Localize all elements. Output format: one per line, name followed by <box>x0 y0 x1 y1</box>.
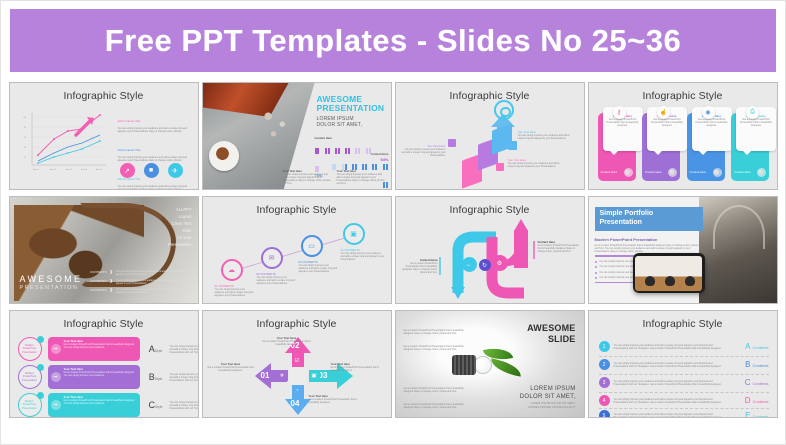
caption-body: You can simply impress your audience and… <box>283 173 331 185</box>
subtitle-small: LOREM IPSUM DOLOR SIT AMET, CONSECTETUER… <box>520 402 576 409</box>
phone-mockup <box>633 253 705 293</box>
slide-thumbnail-11[interactable]: AWESOME SLIDE LOREM IPSUM DOLOR SIT AMET… <box>395 310 585 418</box>
camera-icon: ▣ <box>343 223 365 245</box>
item-body: You can simply impress your audience and… <box>614 398 727 404</box>
content-block: Add Contents Title You can simply impres… <box>118 138 190 162</box>
arch-region <box>713 205 765 249</box>
globe-icon: ⚪ <box>713 168 722 177</box>
item-label: CONTENTS <box>81 279 107 283</box>
document-icon: ■ <box>144 163 159 178</box>
node-caption-1: 01 CONTENTS You can simply impress your … <box>215 285 255 297</box>
bar-body: Get a modern PowerPoint Presentation tha… <box>64 399 136 405</box>
left-content-block: Content Here Get a modern PowerPoint Pre… <box>402 259 438 274</box>
chair-region <box>645 276 655 286</box>
card-2[interactable]: Contents Here Get a modern PowerPoint Pr… <box>642 113 680 181</box>
row-bar: ➞ Your Text Here Get a modern PowerPoint… <box>48 393 140 417</box>
cloud-icon: ☁ <box>221 259 243 281</box>
bullet-1: Get a modern PowerPoint Presentation tha… <box>404 329 470 335</box>
page-title: Free PPT Templates - Slides No 25~36 <box>105 23 682 59</box>
item-body: You can simply impress your audience and… <box>116 279 188 285</box>
caption-body: You can simply impress your audience and… <box>257 276 297 285</box>
card-row: Contents Here Get a modern PowerPoint Pr… <box>598 113 770 181</box>
separator <box>599 408 769 409</box>
monitor-icon: ▭ <box>301 235 323 257</box>
card-body: Get a modern PowerPoint Presentation tha… <box>739 118 773 127</box>
row-letter: BStyle <box>145 372 167 382</box>
section-body: Get a modern PowerPoint Presentation tha… <box>595 244 703 253</box>
arrow-number-03: 03 <box>319 371 328 380</box>
item-body: You can simply impress your audience and… <box>614 413 727 419</box>
section-heading: Modern PowerPoint Presentation <box>595 237 703 242</box>
bullet-2: Get a modern PowerPoint Presentation tha… <box>404 345 470 351</box>
step-caption-3: Your Text Here You can simply impress yo… <box>518 131 574 140</box>
subheading: PRESENTATION <box>20 285 83 291</box>
slide-thumbnail-06[interactable]: Infographic Style ☁ ✉ ▭ ▣ 01 CONTENTS Yo… <box>202 196 392 304</box>
item-label: Contents <box>752 414 768 418</box>
separator <box>599 374 769 375</box>
svg-text:80: 80 <box>24 127 26 129</box>
row-bar: ➞ Your Text Here Get a modern PowerPoint… <box>48 337 140 361</box>
item-label: Contents <box>752 363 768 368</box>
caption-body: You can simply impress your audience and… <box>341 252 385 261</box>
target-icon <box>494 100 514 120</box>
gear-icon: ⚙ <box>492 255 508 271</box>
slide-thumbnail-02[interactable]: AWESOME PRESENTATION LOREM IPSUM DOLOR S… <box>202 82 392 190</box>
bar-label: Content Here <box>315 137 389 140</box>
step-caption-1: Your Text Here You can simply impress yo… <box>402 145 446 157</box>
caption-01: Your Text Here Get a modern PowerPoint P… <box>207 363 255 372</box>
bullet-icon <box>595 266 597 268</box>
row-1: Modern PowerPoint Presentation ➞ Your Te… <box>18 337 199 361</box>
chevron-right-icon: ❯ <box>110 279 113 283</box>
heading-line2: PRESENTATION <box>317 104 389 113</box>
separator <box>599 356 769 357</box>
row-3: Modern PowerPoint Presentation ➞ Your Te… <box>18 393 199 417</box>
slide-heading-area: AWESOME PRESENTATION <box>20 274 83 291</box>
svg-text:60: 60 <box>24 137 26 139</box>
printer-icon: ⚪ <box>757 168 766 177</box>
arrow-number-01: 01 <box>261 371 270 380</box>
clock-icon: ◔ <box>292 385 303 396</box>
arrow-right-icon: ➞ <box>51 344 61 354</box>
check-icon: ☑ <box>292 355 303 366</box>
bar-body: Get a modern PowerPoint Presentation tha… <box>64 371 136 377</box>
icon-row: ↗ ■ ✈ <box>120 163 183 178</box>
block-heading: Add Contents Title <box>118 119 141 123</box>
list-item-3: 3 You can simply impress your audience a… <box>599 377 769 388</box>
style-label: Style <box>155 349 163 353</box>
chevron-right-icon: ❯ <box>110 288 113 292</box>
caption-body: You can simply impress your audience and… <box>508 162 564 168</box>
slide-thumbnail-03[interactable]: Infographic Style Your Text Here You can… <box>395 82 585 190</box>
svg-text:20: 20 <box>24 157 26 159</box>
item-label: CONTENTS <box>81 270 107 274</box>
row-note: You can simply impress your audience and… <box>170 345 199 354</box>
step-marker-2 <box>448 139 456 147</box>
caption-1: Your Text Here You can simply impress yo… <box>283 170 331 185</box>
caption-body: You can simply impress your audience and… <box>215 288 255 297</box>
slide-title: Infographic Style <box>589 318 777 330</box>
list-item-1: 1 You can simply impress your audience a… <box>599 341 769 352</box>
thumb-icon: ⚪ <box>668 168 677 177</box>
step-marker-1 <box>496 163 504 171</box>
heading-line2: Presentation <box>600 219 698 228</box>
item-letter: A <box>745 342 750 351</box>
accent-dot <box>37 392 44 399</box>
caption-04: Your Text Here Get a modern PowerPoint P… <box>309 395 361 404</box>
chair-region <box>665 276 675 286</box>
caption-02: Your Text Here Get a modern PowerPoint P… <box>259 337 315 346</box>
footer-label: Content Here <box>601 171 618 174</box>
chart-icon: ↗ <box>120 163 135 178</box>
layout-note: ALLPPT Layout Clean Text Slide for your … <box>136 207 192 249</box>
footer-label: Content Here <box>690 171 707 174</box>
heading-area: AWESOME SLIDE <box>527 323 575 346</box>
svg-text:Item 2: Item 2 <box>50 168 57 171</box>
style-label: Style <box>155 377 163 381</box>
bullet-text: Get a modern PowerPoint Presentation tha… <box>404 345 470 351</box>
block-body: Get a modern PowerPoint Presentation tha… <box>402 262 438 274</box>
slide-thumbnail-07[interactable]: Infographic Style ← ↻ ⚙ Content Here Get… <box>395 196 585 304</box>
list-item: CONTENTS ❯ You can simply impress your a… <box>81 288 193 294</box>
block-body: Get a modern PowerPoint Presentation tha… <box>538 244 580 253</box>
step-caption-2: Your Text Here You can simply impress yo… <box>508 159 564 168</box>
card-body: Get a modern PowerPoint Presentation tha… <box>650 118 684 127</box>
item-label: Contents <box>752 381 768 386</box>
slide-thumbnail-04[interactable]: Infographic Style Contents Here Get a mo… <box>588 82 778 190</box>
phone-screen <box>635 256 702 291</box>
item-label-group: D Contents <box>727 396 769 405</box>
bar-body: Get a modern PowerPoint Presentation tha… <box>64 343 136 349</box>
slide-title: Infographic Style <box>589 90 777 102</box>
bullet-icon <box>595 261 597 263</box>
mail-icon: ✉ <box>261 247 283 269</box>
item-body: You can simply impress your audience and… <box>614 380 727 386</box>
arrow-icon: ← <box>462 257 477 272</box>
node-caption-3: 03 CONTENTS You can simply impress your … <box>299 261 339 273</box>
caption-body: Get a modern PowerPoint Presentation tha… <box>207 366 255 372</box>
svg-text:Item 5: Item 5 <box>96 168 103 171</box>
svg-text:40: 40 <box>24 147 26 149</box>
caption-2: Your Text Here You can simply impress yo… <box>337 170 385 185</box>
item-label-group: B Contents <box>727 360 769 369</box>
heading: AWESOME <box>20 274 83 284</box>
rocket-icon: ✈ <box>277 370 288 381</box>
footer-label: Content Here <box>734 171 751 174</box>
bullet-3: Get a modern PowerPoint Presentation tha… <box>404 387 470 393</box>
caption-body: Get a modern PowerPoint Presentation tha… <box>309 398 361 404</box>
svg-text:Item 1: Item 1 <box>33 168 40 171</box>
bullet-text: Get a modern PowerPoint Presentation tha… <box>404 329 470 335</box>
card-footer: Content Here ⚪ <box>734 168 766 177</box>
contents-list: CONTENTS ❯ You can simply impress your a… <box>81 270 193 297</box>
bulb-glass <box>474 356 492 374</box>
bar-label: Content Here <box>315 153 389 156</box>
arrow-right-icon: ➞ <box>51 400 61 410</box>
footer-label: Content Here <box>645 171 662 174</box>
item-letter: E <box>745 411 750 418</box>
style-label: Style <box>155 405 163 409</box>
teacup-region <box>209 141 239 171</box>
card-4[interactable]: Contents Here Get a modern PowerPoint Pr… <box>731 113 769 181</box>
line-chart: Item 1Item 2Item 3Item 4Item 5 100806040… <box>20 109 108 177</box>
key-icon: ⚷ <box>613 106 626 119</box>
card-body: Get a modern PowerPoint Presentation tha… <box>695 118 729 127</box>
key-icon: ⚪ <box>624 168 633 177</box>
caption-body: Get a modern PowerPoint Presentation tha… <box>331 366 383 372</box>
item-body: You can simply impress your audience and… <box>116 288 188 294</box>
number-badge: 5 <box>599 410 610 418</box>
row-2: Modern PowerPoint Presentation ➞ Your Te… <box>18 365 199 389</box>
slide-thumbnail-10[interactable]: Infographic Style 02 04 01 03 ☑ ◔ ✈ ▣ Yo… <box>202 310 392 418</box>
slide-grid: Infographic Style Item 1Item 2Item 3 <box>9 82 777 418</box>
card-body: Get a modern PowerPoint Presentation tha… <box>606 118 640 127</box>
content-block: Add Contents Title You can simply impres… <box>118 109 190 133</box>
node-caption-4: 04 CONTENTS You can simply impress your … <box>341 249 385 261</box>
right-content-block: Content Here Get a modern PowerPoint Pre… <box>538 241 580 253</box>
header-banner: Free PPT Templates - Slides No 25~36 <box>10 9 776 72</box>
svg-text:Item 4: Item 4 <box>81 168 88 171</box>
card-footer: Content Here ⚪ <box>690 168 722 177</box>
row-letter: AStyle <box>145 344 167 354</box>
list-item: CONTENTS ❯ You can simply impress your a… <box>81 279 193 285</box>
bullet-icon <box>595 277 597 279</box>
caption-body: You can simply impress your audience and… <box>337 173 385 185</box>
svg-text:100: 100 <box>23 117 26 119</box>
list-item-4: 4 You can simply impress your audience a… <box>599 395 769 406</box>
accent-dot <box>37 336 44 343</box>
chevron-right-icon: ❯ <box>110 270 113 274</box>
caption-body: You can simply impress your audience and… <box>402 148 446 157</box>
item-label: Contents <box>752 399 768 404</box>
step-marker-3 <box>508 141 517 150</box>
bulb-base <box>452 355 476 375</box>
list-item: CONTENTS ❯ You can simply impress your a… <box>81 270 193 276</box>
caption-body: You can simply impress your audience and… <box>518 134 574 140</box>
refresh-icon: ↻ <box>479 259 491 271</box>
chair-region <box>685 276 695 286</box>
subtitle-line2: DOLOR SIT AMET, <box>520 394 576 402</box>
caption-body: Get a modern PowerPoint Presentation tha… <box>259 340 315 346</box>
bullet-icon <box>595 272 597 274</box>
bullet-text: Get a modern PowerPoint Presentation tha… <box>404 387 470 393</box>
arrow-number-04: 04 <box>291 399 300 408</box>
item-letter: C <box>745 378 751 387</box>
slide-title: Infographic Style <box>396 90 584 102</box>
rocket-icon: ✈ <box>168 163 183 178</box>
subtitle-line1: LOREM IPSUM <box>520 386 576 394</box>
caption-03: Your Text Here Get a modern PowerPoint P… <box>331 363 383 372</box>
heading-line1: Simple Portfolio <box>600 210 698 219</box>
item-letter: B <box>745 360 750 369</box>
number-badge: 3 <box>599 377 610 388</box>
block-body: You can simply impress your audience and… <box>118 156 190 162</box>
item-body: You can simply impress your audience and… <box>614 362 727 368</box>
interior-photo <box>699 197 777 304</box>
row-note: You can simply impress your audience and… <box>170 373 199 382</box>
subtitle-area: LOREM IPSUM DOLOR SIT AMET, LOREM IPSUM … <box>520 386 576 409</box>
slide-title: Infographic Style <box>10 90 198 102</box>
caption-body: You can simply impress your audience and… <box>299 264 339 273</box>
node-caption-2: 02 CONTENTS You can simply impress your … <box>257 273 297 285</box>
bullet-text: Get a modern PowerPoint Presentation tha… <box>404 403 470 409</box>
list-item-5: 5 You can simply impress your audience a… <box>599 410 769 418</box>
accent-dot <box>37 364 44 371</box>
thumb-icon: ☝ <box>657 106 670 119</box>
growth-arrow-icon <box>76 117 94 135</box>
block-body: You can simply impress your audience and… <box>118 127 190 133</box>
item-label-group: C Contents <box>727 378 769 387</box>
item-label-group: A Contents <box>727 342 769 351</box>
title-band: Simple Portfolio Presentation <box>595 207 703 231</box>
item-body: You can simply impress your audience and… <box>116 270 188 276</box>
twig-region <box>255 103 299 147</box>
heading-line2: SLIDE <box>527 334 575 345</box>
card-1[interactable]: Contents Here Get a modern PowerPoint Pr… <box>598 113 636 181</box>
separator <box>599 392 769 393</box>
card-footer: Content Here ⚪ <box>645 168 677 177</box>
block-body: You can simply impress your audience and… <box>118 185 190 190</box>
item-letter: D <box>745 396 751 405</box>
row-letter: CStyle <box>145 400 167 410</box>
item-body: You can simply impress your audience and… <box>614 344 727 350</box>
slide-thumbnail-08[interactable]: Simple Portfolio Presentation Modern Pow… <box>588 196 778 304</box>
row-bar: ➞ Your Text Here Get a modern PowerPoint… <box>48 365 140 389</box>
item-label: Contents <box>752 345 768 350</box>
bullet-4: Get a modern PowerPoint Presentation tha… <box>404 403 470 409</box>
page-root: Free PPT Templates - Slides No 25~36 Inf… <box>0 0 786 445</box>
slide-title: Infographic Style <box>10 318 198 330</box>
number-badge: 4 <box>599 395 610 406</box>
monitor-icon: ▣ <box>309 370 320 381</box>
subtitle-line2: DOLOR SIT AMET, <box>317 122 389 128</box>
card-footer: Content Here ⚪ <box>601 168 633 177</box>
item-label: CONTENTS <box>81 288 107 292</box>
svg-text:Item 3: Item 3 <box>66 168 73 171</box>
title-area: AWESOME PRESENTATION LOREM IPSUM DOLOR S… <box>317 95 389 128</box>
item-label-group: E Contents <box>727 411 769 418</box>
slide-thumbnail-05[interactable]: ALLPPT Layout Clean Text Slide for your … <box>9 196 199 304</box>
printer-icon: ⎙ <box>746 106 759 119</box>
card-3[interactable]: Contents Here Get a modern PowerPoint Pr… <box>687 113 725 181</box>
row-note: You can simply impress your audience and… <box>170 401 199 410</box>
heading-line1: AWESOME <box>527 323 575 334</box>
slide-thumbnail-01[interactable]: Infographic Style Item 1Item 2Item 3 <box>9 82 199 190</box>
number-badge: 1 <box>599 341 610 352</box>
slide-thumbnail-09[interactable]: Infographic Style Modern PowerPoint Pres… <box>9 310 199 418</box>
globe-icon: ◉ <box>702 106 715 119</box>
number-badge: 2 <box>599 359 610 370</box>
arrow-right-icon: ➞ <box>51 372 61 382</box>
list-item-2: 2 You can simply impress your audience a… <box>599 359 769 370</box>
block-heading: Add Contents Title <box>118 148 141 152</box>
slide-thumbnail-12[interactable]: Infographic Style 1 You can simply impre… <box>588 310 778 418</box>
